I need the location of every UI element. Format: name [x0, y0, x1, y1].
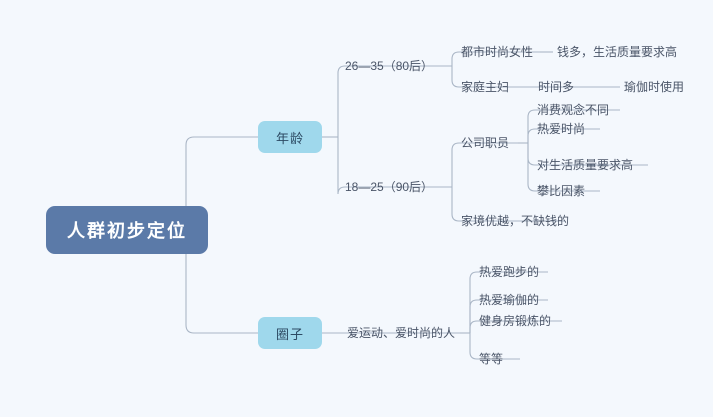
branch-node-circle[interactable]: 圈子 [258, 317, 322, 349]
node-yoga-lovers[interactable]: 热爱瑜伽的 [479, 292, 555, 308]
node-trait-high-life-quality[interactable]: 对生活质量要求高 [537, 157, 653, 173]
node-yoga-lovers-label: 热爱瑜伽的 [479, 294, 539, 306]
branch-node-age[interactable]: 年龄 [258, 121, 322, 153]
node-running-lovers-label: 热爱跑步的 [479, 266, 539, 278]
node-urban-fashion-women[interactable]: 都市时尚女性 [461, 44, 545, 60]
node-trait-free-time-label: 时间多 [538, 81, 574, 93]
node-age-range-18-25-label: 18—25（90后） [345, 181, 433, 193]
node-housewife-label: 家庭主妇 [461, 81, 509, 93]
node-gym-exercisers-label: 健身房锻炼的 [479, 315, 551, 327]
node-trait-loves-fashion[interactable]: 热爱时尚 [537, 121, 605, 137]
root-node-label: 人群初步定位 [67, 217, 187, 243]
node-urban-fashion-women-label: 都市时尚女性 [461, 46, 533, 58]
node-company-employee[interactable]: 公司职员 [461, 135, 521, 151]
node-age-range-18-25[interactable]: 18—25（90后） [345, 179, 453, 195]
node-trait-consumption-view-label: 消费观念不同 [537, 104, 609, 116]
node-trait-free-time[interactable]: 时间多 [538, 79, 586, 95]
node-age-range-26-35-label: 26—35（80后） [345, 60, 433, 72]
node-trait-consumption-view[interactable]: 消费观念不同 [537, 102, 629, 118]
node-sporty-fashionable-people[interactable]: 爱运动、爱时尚的人 [347, 325, 467, 341]
node-housewife[interactable]: 家庭主妇 [461, 79, 521, 95]
branch-node-circle-label: 圈子 [276, 324, 304, 343]
branch-node-age-label: 年龄 [276, 128, 304, 147]
node-etcetera[interactable]: 等等 [479, 351, 523, 367]
mindmap-canvas: 人群初步定位 年龄 圈子 26—35（80后） 18—25（90后） 都市时尚女… [0, 0, 713, 417]
node-trait-high-life-quality-label: 对生活质量要求高 [537, 159, 633, 171]
node-sporty-fashionable-people-label: 爱运动、爱时尚的人 [347, 327, 455, 339]
node-company-employee-label: 公司职员 [461, 137, 509, 149]
node-trait-peer-comparison[interactable]: 攀比因素 [537, 183, 605, 199]
node-running-lovers[interactable]: 热爱跑步的 [479, 264, 555, 280]
node-etcetera-label: 等等 [479, 353, 503, 365]
node-trait-loves-fashion-label: 热爱时尚 [537, 123, 585, 135]
node-trait-wealthy-high-quality[interactable]: 钱多，生活质量要求高 [557, 44, 697, 60]
root-node[interactable]: 人群初步定位 [46, 206, 208, 254]
node-gym-exercisers[interactable]: 健身房锻炼的 [479, 313, 567, 329]
node-trait-wealthy-high-quality-label: 钱多，生活质量要求高 [557, 46, 677, 58]
node-trait-yoga-usage-label: 瑜伽时使用 [624, 81, 684, 93]
node-wealthy-family[interactable]: 家境优越，不缺钱的 [461, 213, 577, 229]
node-wealthy-family-label: 家境优越，不缺钱的 [461, 215, 569, 227]
node-trait-yoga-usage[interactable]: 瑜伽时使用 [624, 79, 700, 95]
node-age-range-26-35[interactable]: 26—35（80后） [345, 58, 453, 74]
node-trait-peer-comparison-label: 攀比因素 [537, 185, 585, 197]
